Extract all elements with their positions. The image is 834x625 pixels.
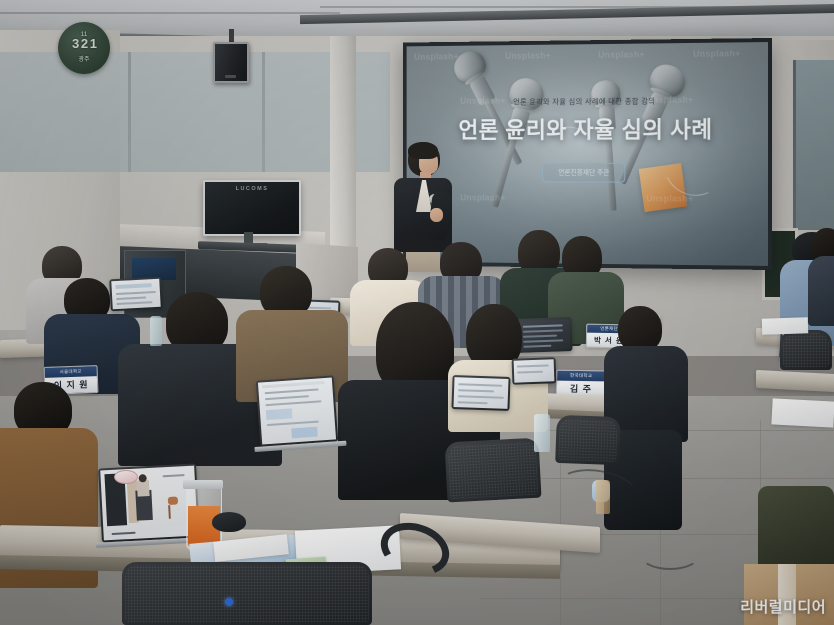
wall-clock-sign: 11 3 2 1 광주 [58, 22, 110, 74]
laptop-lid [512, 357, 557, 385]
laptop[interactable] [515, 317, 572, 353]
laptop-screen [453, 377, 508, 409]
backpack [758, 486, 834, 570]
laptop-screen [514, 359, 555, 382]
unsplash-watermark: Unsplash+ [646, 193, 693, 203]
water-bottle [534, 414, 550, 452]
laptop-sticker [114, 470, 138, 484]
laptop[interactable] [451, 375, 510, 411]
monitor-brand-label: LUCOMS [205, 186, 299, 192]
photo-watermark: 리버럴미디어 [740, 596, 826, 617]
chair-mesh [448, 441, 539, 500]
door-frame [793, 60, 834, 230]
floor-cable [640, 540, 700, 570]
laptop[interactable] [512, 357, 557, 385]
chair-mesh [125, 565, 369, 622]
laptop-lid [256, 375, 338, 446]
unsplash-watermark: Unsplash+ [414, 52, 459, 62]
glass-divider [128, 52, 131, 172]
paper-stack [771, 398, 834, 427]
slide-subtitle: 언론 윤리와 자율 심의 사례에 대한 종합 강의 [403, 95, 772, 108]
ceiling-panel-line [0, 12, 340, 14]
chair-back [780, 330, 832, 370]
computer-mouse[interactable] [212, 512, 246, 532]
chair-back [555, 415, 621, 465]
laptop-lid [451, 375, 510, 411]
presenter-hair [408, 142, 438, 159]
chair-logo-dot [225, 598, 233, 606]
laptop[interactable] [256, 375, 338, 446]
unsplash-watermark: Unsplash+ [460, 193, 505, 203]
slide-cta-button: 언론진흥재단 주관 [542, 163, 626, 183]
paper-stack [762, 317, 809, 335]
chair-mesh [558, 418, 617, 462]
speaker-mount [229, 29, 234, 43]
unsplash-watermark: Unsplash+ [598, 49, 645, 59]
chair-back [444, 438, 541, 503]
student-desk [756, 370, 834, 392]
lecture-hall-photo: 11 3 2 1 광주 [0, 0, 834, 625]
water-bottle [150, 316, 162, 346]
unsplash-watermark: Unsplash+ [505, 51, 551, 61]
ceiling-speaker [213, 42, 249, 83]
clock-line-2: 3 2 1 [72, 40, 96, 48]
presenter-hand [430, 208, 443, 222]
chair-mesh [783, 333, 829, 367]
cup-lid [183, 480, 223, 489]
laptop-lid [515, 317, 572, 353]
chair-back [122, 562, 372, 625]
unsplash-watermark: Unsplash+ [693, 48, 741, 58]
laptop-screen [517, 319, 570, 351]
podium-monitor: LUCOMS [203, 180, 301, 236]
laptop-screen [258, 377, 336, 444]
slide-title: 언론 윤리와 자율 심의 사례 [403, 110, 772, 144]
clock-line-3: 광주 [78, 56, 89, 64]
laptop-lid [109, 277, 163, 312]
laptop[interactable] [109, 277, 163, 312]
laptop-screen [111, 279, 160, 309]
person-torso [808, 256, 834, 326]
wall-column [330, 36, 356, 266]
glass-divider [262, 52, 265, 172]
